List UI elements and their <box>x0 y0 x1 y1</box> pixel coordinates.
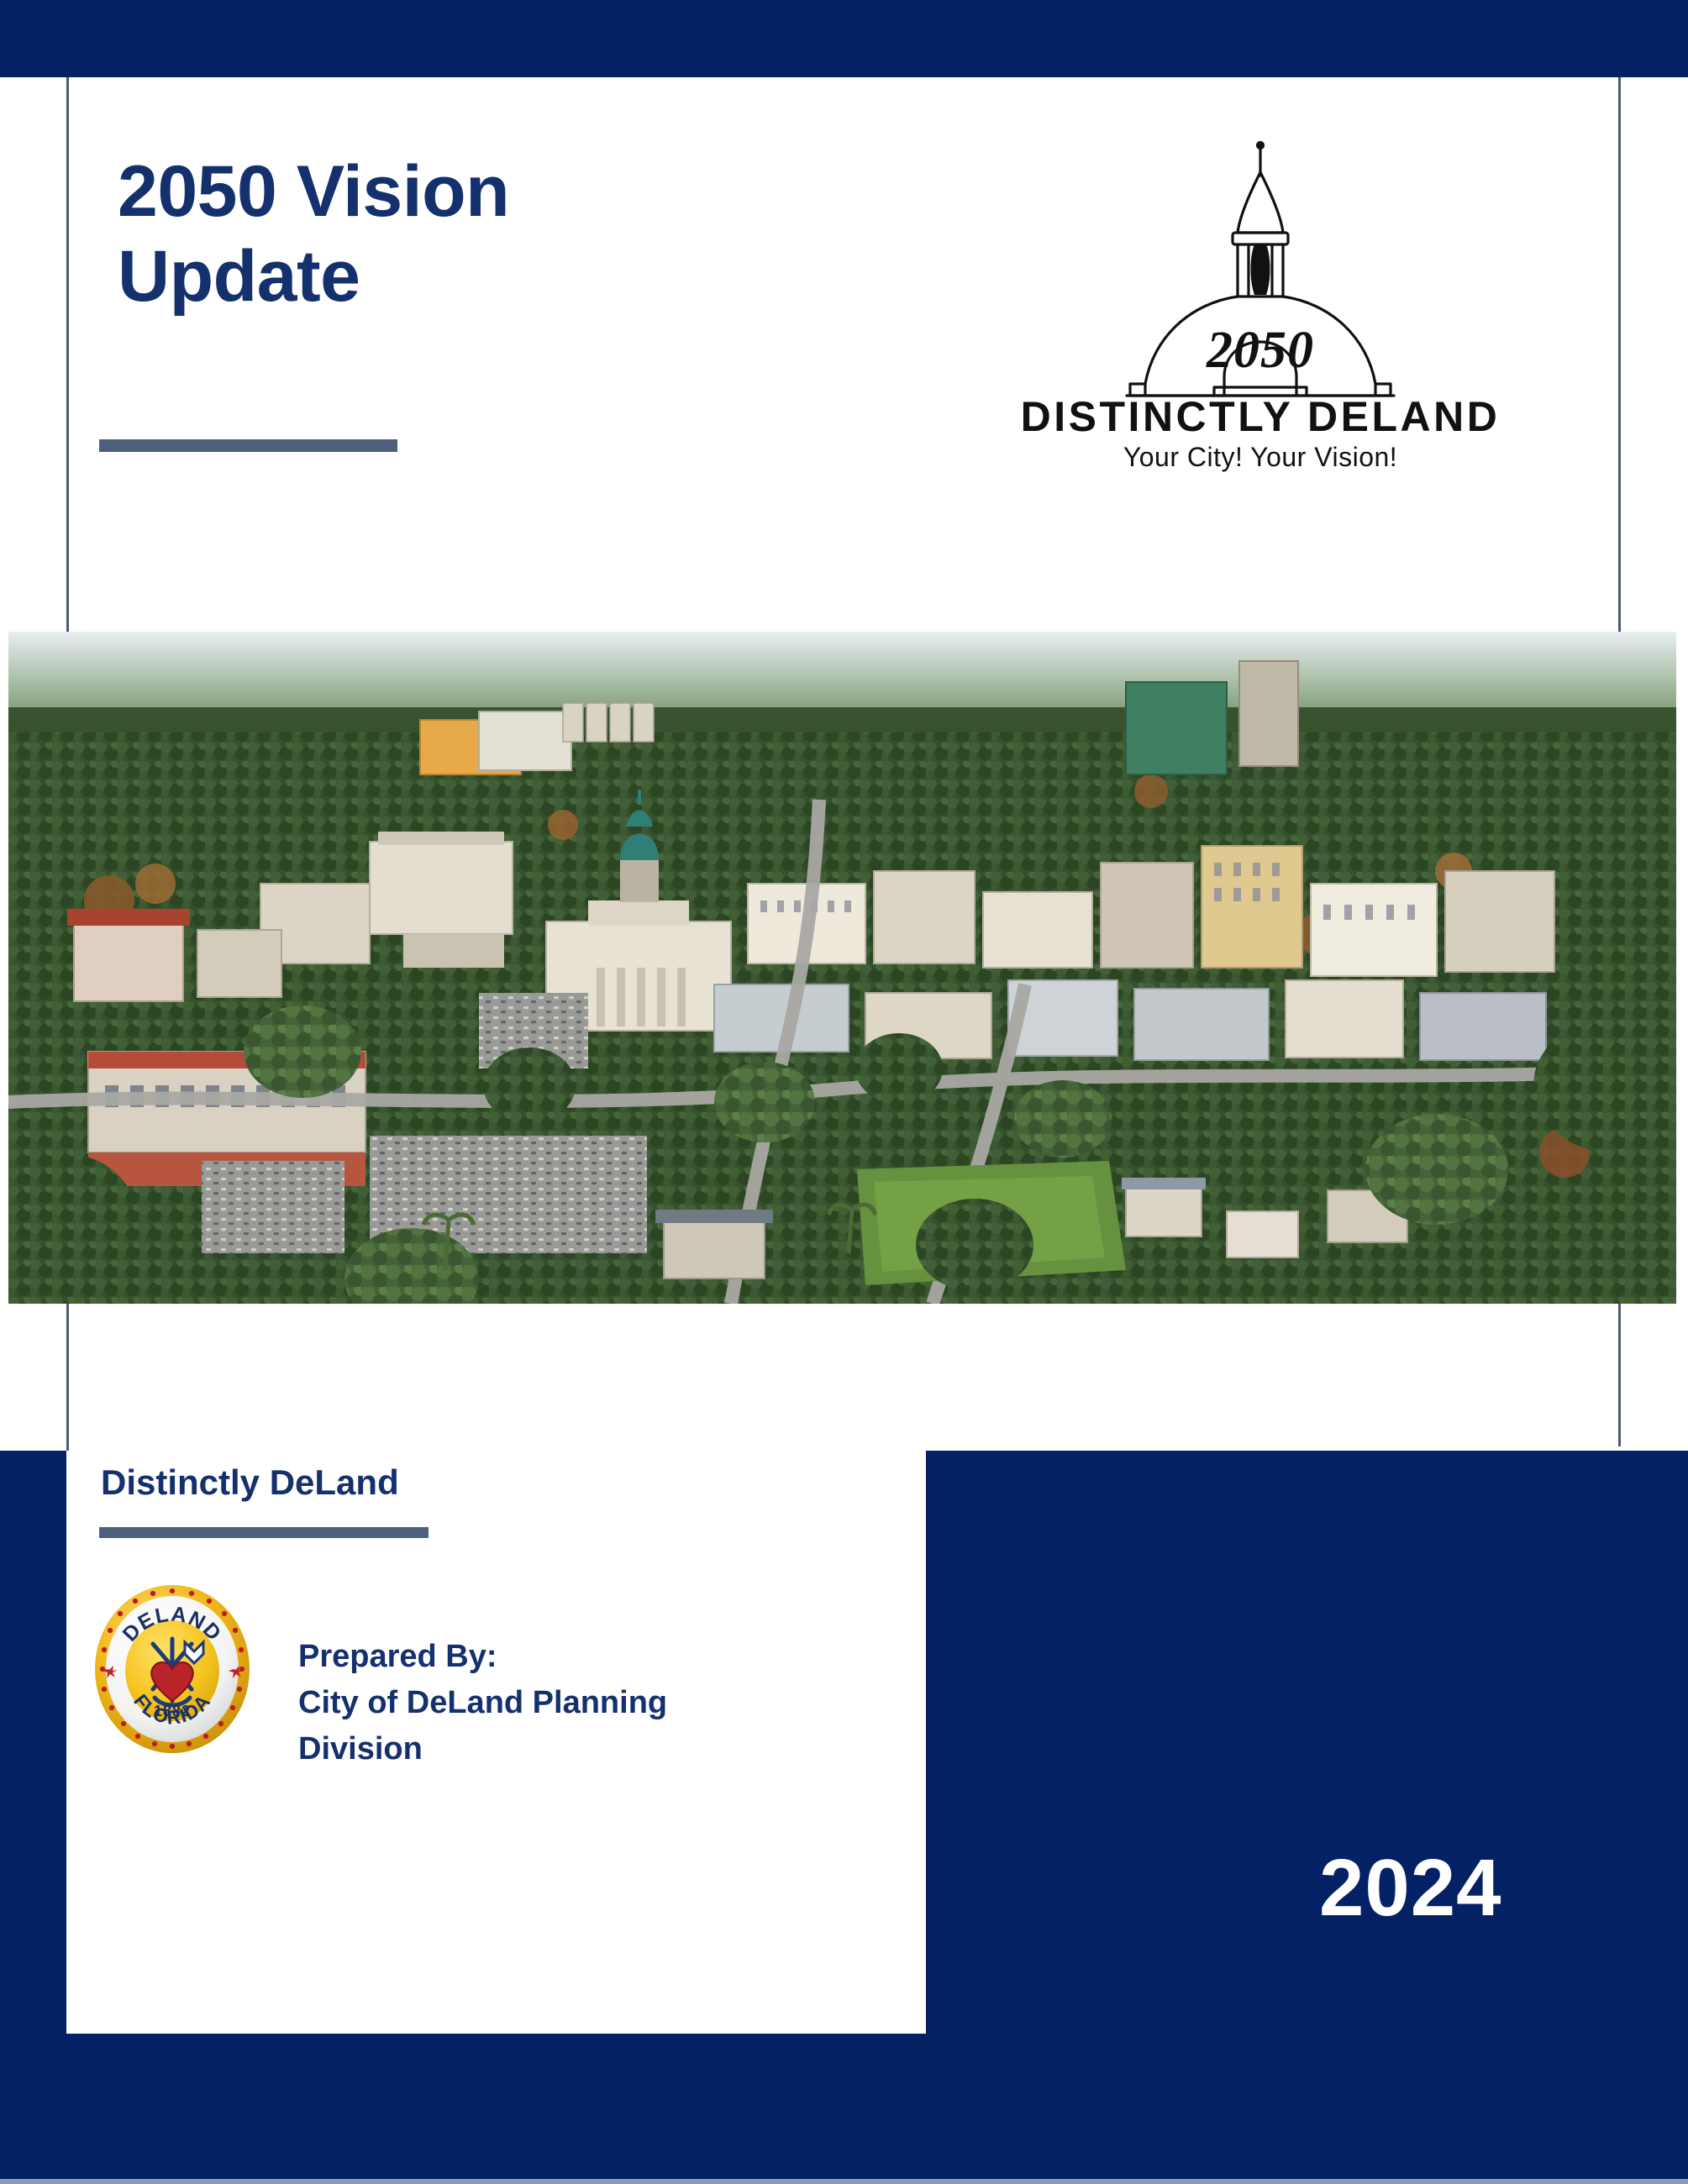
title-block: 2050 Vision Update <box>118 150 874 320</box>
prepared-by-org-line-1: City of DeLand Planning <box>298 1680 819 1726</box>
seal-founded-year: 1882 <box>154 1703 191 1719</box>
distinctly-deland-logo: 2050 DISTINCTLY DELAND Your City! Your V… <box>970 139 1550 475</box>
city-of-deland-seal: DELAND FLORIDA 1882 <box>92 1583 252 1756</box>
page-subtitle: Distinctly DeLand <box>101 1463 399 1502</box>
page-title: 2050 Vision Update <box>118 150 874 320</box>
prepared-by-label: Prepared By: <box>298 1634 819 1680</box>
logo-year-2050: 2050 <box>1206 322 1314 379</box>
prepared-by-org-line-2: Division <box>298 1726 819 1772</box>
document-cover-page: 2050 Vision Update <box>0 0 1688 2184</box>
logo-tagline: Your City! Your Vision! <box>1123 442 1397 472</box>
aerial-photo-downtown-deland <box>8 632 1676 1304</box>
logo-wordmark: DISTINCTLY DELAND <box>1021 393 1501 440</box>
title-underline-rule <box>99 439 397 452</box>
publication-year: 2024 <box>1319 1848 1502 1929</box>
page-bottom-edge <box>0 2179 1688 2184</box>
prepared-by-block: Prepared By: City of DeLand Planning Div… <box>298 1634 819 1772</box>
top-navy-band <box>0 0 1688 77</box>
cover-photo <box>8 632 1676 1304</box>
subtitle-underline-rule <box>99 1527 429 1538</box>
